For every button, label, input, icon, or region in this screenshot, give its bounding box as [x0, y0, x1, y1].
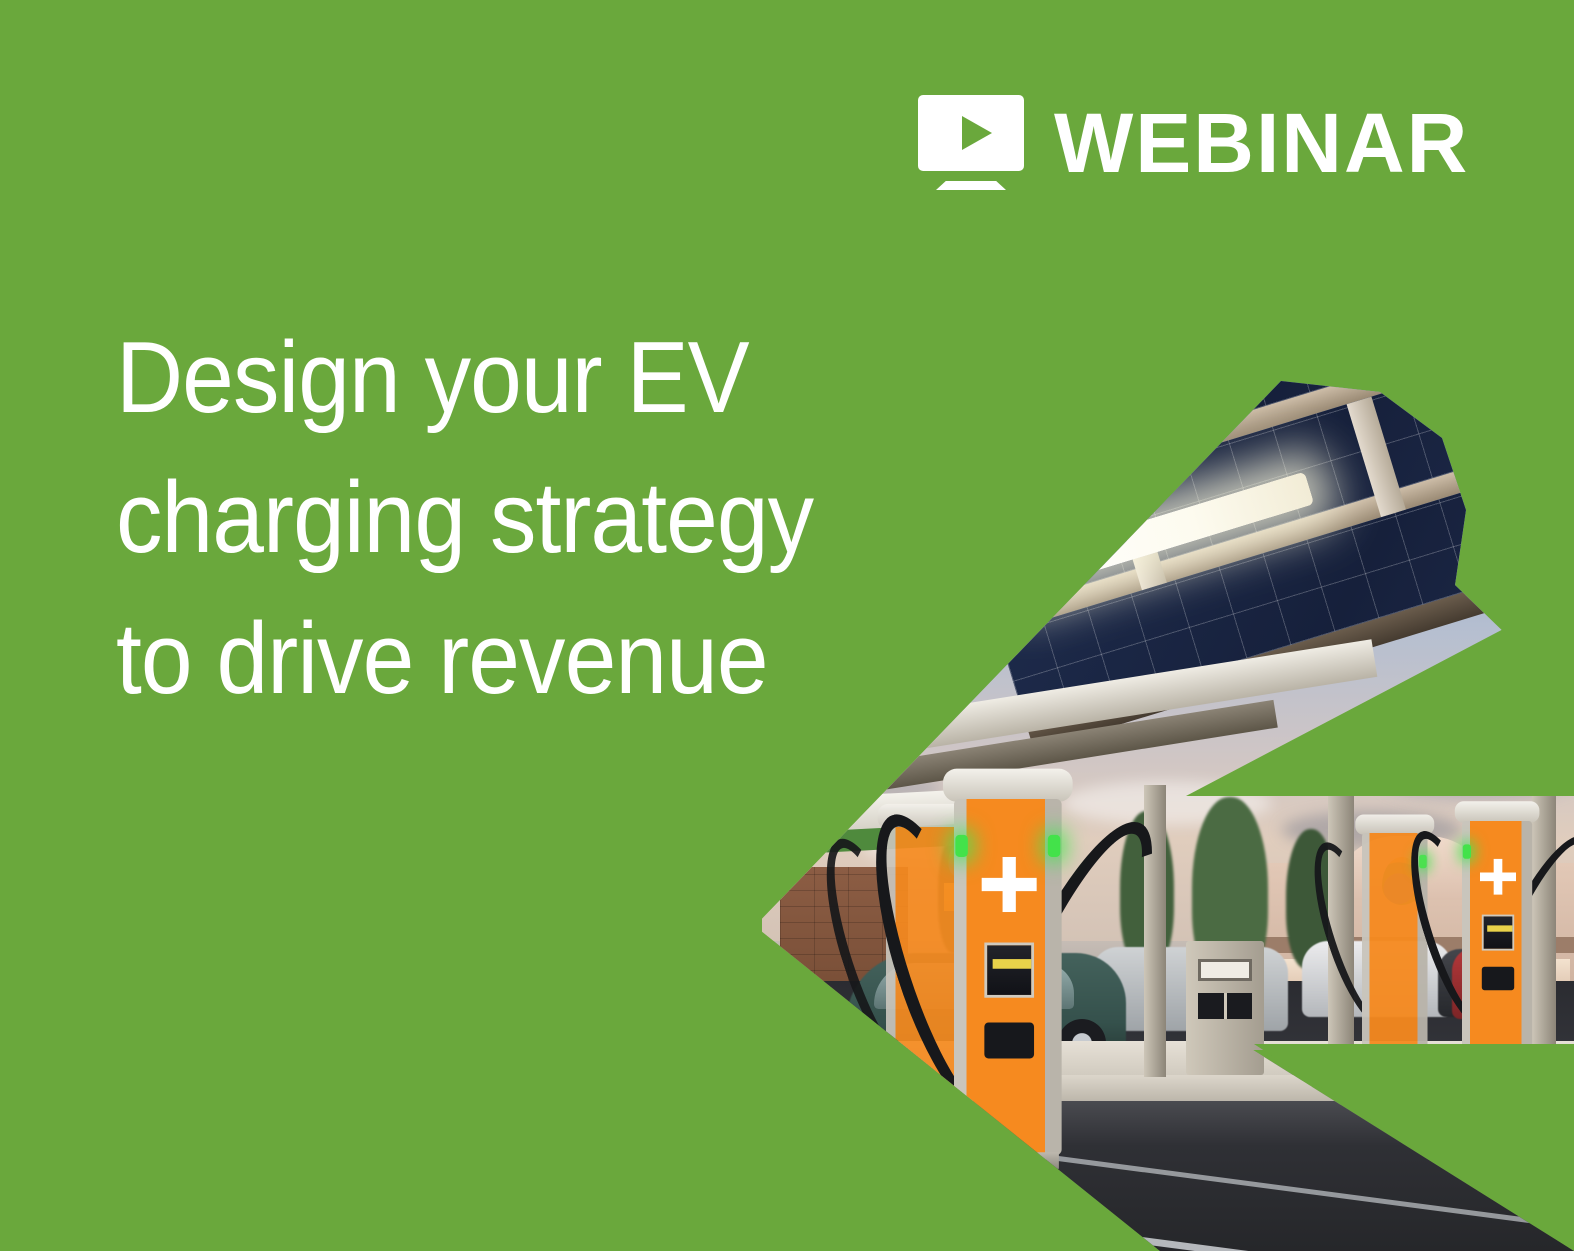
charger-body	[954, 799, 1062, 1155]
charger-base	[888, 1096, 966, 1109]
charger-body	[1462, 821, 1532, 1053]
play-triangle-icon	[962, 116, 992, 150]
charger-display	[984, 943, 1034, 998]
charger-hood	[943, 769, 1073, 802]
kiosk-card-slot	[1198, 993, 1252, 1019]
charger-status-led	[1463, 844, 1471, 858]
charger-connector-port	[1482, 967, 1514, 990]
headline-line-3: to drive revenue	[116, 589, 944, 729]
charger-status-led	[955, 835, 967, 857]
charger-cross-logo-icon	[982, 857, 1037, 912]
charger-connector-port	[984, 1023, 1034, 1059]
monitor-stand	[936, 181, 1006, 190]
webinar-label: WEBINAR	[1054, 107, 1469, 181]
charger-status-led	[1048, 835, 1060, 857]
webinar-badge: WEBINAR	[918, 95, 1469, 193]
charger-cross-logo-icon	[1480, 859, 1516, 895]
webinar-banner: WEBINAR Design your EV charging strategy…	[0, 0, 1574, 1251]
payment-kiosk	[1186, 941, 1264, 1075]
headline-line-2: charging strategy	[116, 448, 944, 588]
charger-hood	[1455, 801, 1540, 823]
kiosk-screen	[1198, 959, 1252, 981]
monitor-play-icon	[918, 95, 1024, 193]
charger-base	[957, 1152, 1059, 1169]
headline-line-1: Design your EV	[116, 308, 944, 448]
page-title: Design your EV charging strategy to driv…	[116, 308, 944, 729]
charger-display	[1482, 915, 1514, 951]
